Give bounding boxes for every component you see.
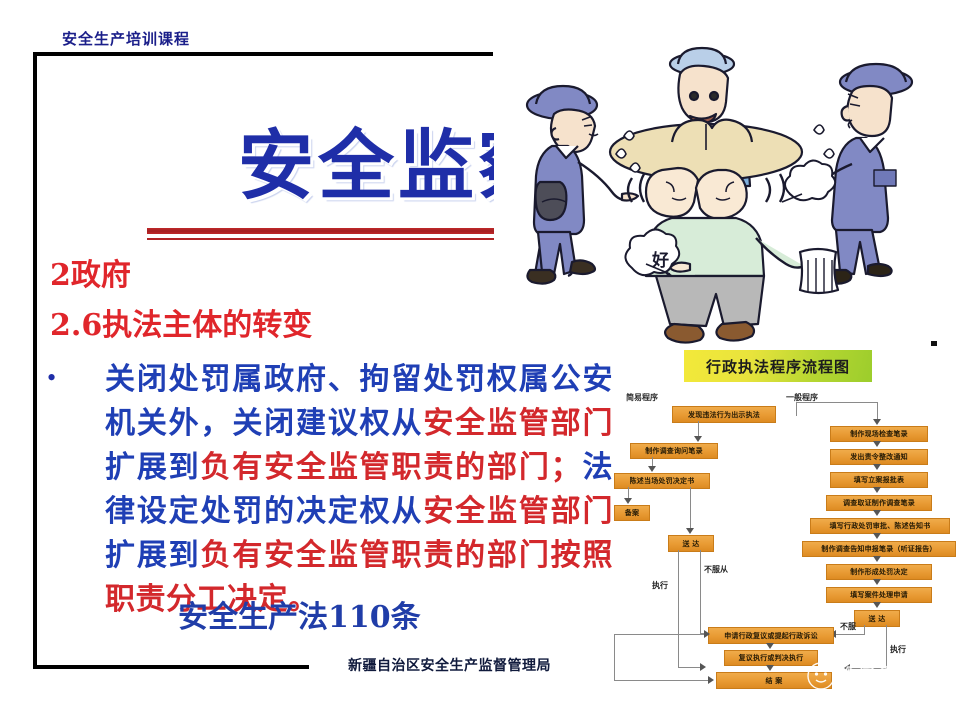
divider-thin (147, 238, 505, 240)
flow-arrow-top-right (873, 419, 881, 425)
flow-arrow-r1 (873, 464, 881, 470)
flowchart: 行政执法程序流程图 简易程序 一般程序 发现违法行为出示执法 制作调查询问笔录 … (612, 346, 960, 720)
flow-arrow-return-2 (708, 676, 714, 684)
flow-edge-label-execute: 执行 (652, 580, 668, 591)
flowchart-title: 行政执法程序流程图 (706, 356, 850, 377)
flow-arrow-return-1 (704, 630, 710, 638)
flow-arrow-r5 (873, 556, 881, 562)
flow-node-right-0: 制作现场检查笔录 (830, 426, 928, 442)
flow-arrow-r4 (873, 533, 881, 539)
dot-artifact (931, 341, 937, 346)
flow-node-delivery-right: 送 达 (854, 610, 900, 627)
bullet-marker: • (47, 365, 56, 391)
flow-arrow-l1 (648, 466, 656, 472)
flow-node-delivery-left: 送 达 (668, 535, 714, 552)
body-segment-6: 扩展到 (105, 538, 201, 573)
flow-node-left-0: 制作调查询问笔录 (630, 443, 718, 459)
flow-edge-label-disobey-right: 不服 (840, 621, 856, 632)
flow-node-right-3: 调查取证制作调查笔录 (826, 495, 932, 511)
flow-arrow-b1 (766, 665, 774, 671)
flow-arrow-rexec (844, 664, 850, 672)
flow-edge-rexec-h (850, 668, 887, 669)
flow-edge-label-execute-right: 执行 (890, 644, 906, 655)
flow-edge-to-delivery (690, 487, 691, 531)
footer-organization: 新疆自治区安全生产监督管理局 (348, 655, 551, 675)
flow-edge-rdis-h (836, 634, 865, 635)
flow-node-left-2: 备案 (614, 505, 650, 521)
speech-bubble-text: 好 (651, 250, 669, 271)
section-heading-2: 2.6执法主体的转变 (50, 300, 312, 344)
flow-arrow-r7 (873, 602, 881, 608)
flow-node-right-6: 制作形成处罚决定 (826, 564, 932, 580)
flow-arrow-l0 (694, 436, 702, 442)
flow-edge-execute-h (678, 667, 702, 668)
flow-arrow-r3 (873, 510, 881, 516)
body-segment-3: 负有安全监管职责的部门； (201, 450, 582, 485)
flow-node-right-4: 填写行政处罚审批、陈述告知书 (810, 518, 950, 534)
flow-edge-label-disobey: 不服从 (704, 564, 728, 575)
cartoon-illustration: 好 (494, 42, 960, 344)
flow-arrow-execute (700, 663, 706, 671)
flow-node-bottom-2: 结 案 (716, 672, 832, 689)
flow-arrow-delivery (686, 528, 694, 534)
frame-left-border (33, 52, 37, 669)
divider-thick (147, 228, 505, 234)
flow-node-right-7: 填写案件处理申请 (826, 587, 932, 603)
section-heading-1: 2政府 (50, 250, 131, 294)
frame-top-border (33, 52, 493, 56)
flow-arrow-r0 (873, 441, 881, 447)
flowchart-title-banner: 行政执法程序流程图 (684, 350, 872, 382)
cartoon-svg: 好 (494, 42, 960, 344)
flow-edge-return-h1 (614, 634, 706, 635)
flow-edge-top-right-v (877, 402, 878, 420)
body-paragraph: 关闭处罚属政府、拘留处罚权属公安机关外，关闭建议权从安全监管部门扩展到负有安全监… (105, 358, 613, 622)
flow-edge-top-right-h (796, 402, 878, 403)
flow-edge-rexec-v (886, 625, 887, 669)
presentation-slide: 安全生产培训课程 安全监察 2政府 2.6执法主体的转变 • 关闭处罚属政府、拘… (0, 0, 960, 720)
flow-edge-top-right-v0 (796, 402, 797, 416)
body-segment-5: 安全监管部门 (423, 494, 613, 529)
flow-edge-execute-v (678, 550, 679, 668)
column-label-simple: 简易程序 (626, 392, 658, 403)
body-segment-2: 扩展到 (105, 450, 201, 485)
course-title-header: 安全生产培训课程 (62, 28, 190, 49)
frame-bottom-border (33, 665, 309, 669)
flow-arrow-b0 (766, 643, 774, 649)
flow-node-bottom-1: 复议执行或判决执行 (724, 650, 818, 666)
flow-node-right-5: 制作调查告知申报笔录（听证报告） (802, 541, 956, 557)
citation-text: 安全生产法110条 (178, 592, 421, 636)
body-segment-1: 安全监管部门 (423, 406, 613, 441)
flow-arrow-l2 (624, 498, 632, 504)
flow-arrow-r6 (873, 579, 881, 585)
flow-node-top: 发现违法行为出示执法 (672, 406, 776, 423)
flow-arrow-r2 (873, 487, 881, 493)
flow-edge-disobey-v (700, 550, 701, 634)
flow-edge-return-v (614, 634, 615, 680)
flow-edge-return-h2 (614, 680, 710, 681)
flow-node-right-2: 填写立案报批表 (830, 472, 928, 488)
flow-node-bottom-0: 申请行政复议或提起行政诉讼 (708, 627, 834, 644)
flow-node-right-1: 发出责令整改通知 (830, 449, 928, 465)
